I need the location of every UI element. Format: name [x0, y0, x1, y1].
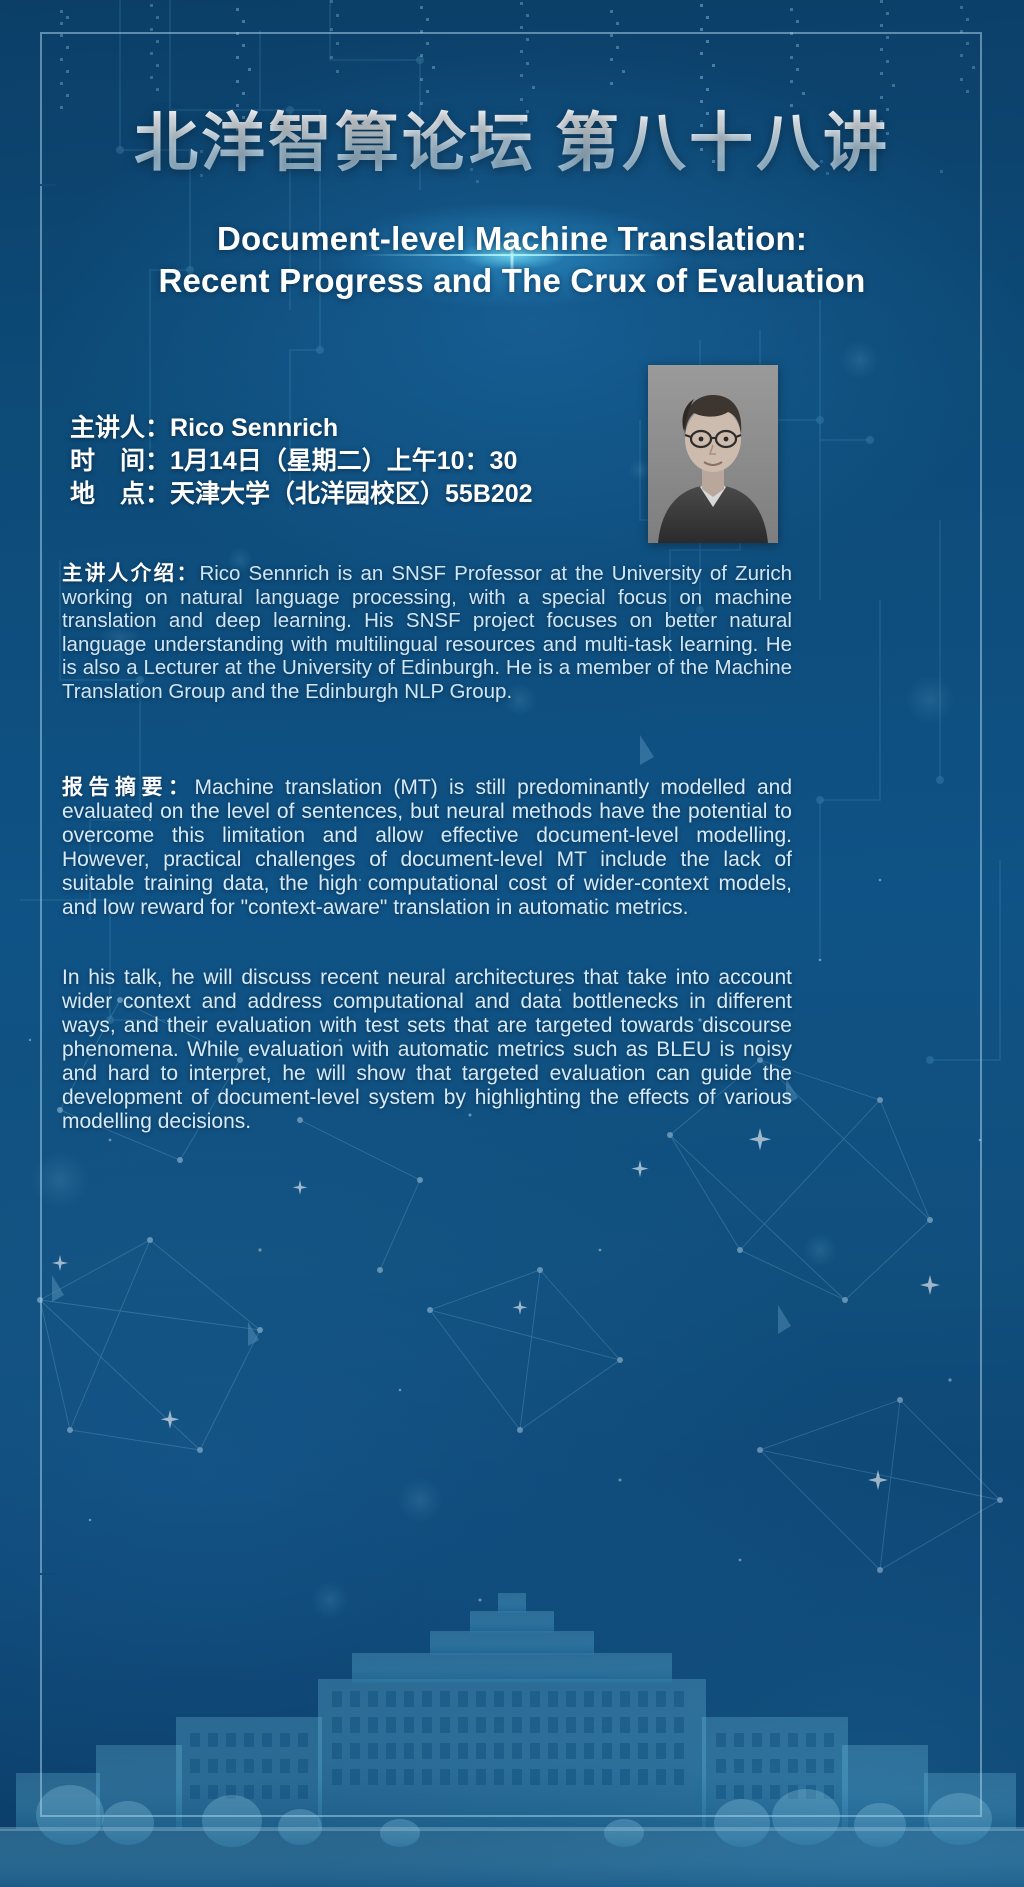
subtitle-line-2: Recent Progress and The Crux of Evaluati…	[60, 260, 964, 302]
event-details-block: 主讲人：Rico Sennrich 时 间：1月14日（星期二）上午10：30 …	[70, 412, 533, 511]
speaker-value: Rico Sennrich	[170, 414, 338, 442]
speaker-bio-paragraph: 主讲人介绍：Rico Sennrich is an SNSF Professor…	[62, 562, 792, 704]
time-row: 时 间：1月14日（星期二）上午10：30	[70, 445, 533, 478]
time-value: 1月14日（星期二）上午10：30	[170, 447, 517, 475]
bio-label: 主讲人介绍：	[62, 562, 199, 585]
abstract-paragraph-2: In his talk, he will discuss recent neur…	[62, 966, 792, 1134]
speaker-row: 主讲人：Rico Sennrich	[70, 412, 533, 445]
poster-canvas: 北洋智算论坛 第八十八讲 Document-level Machine Tran…	[0, 0, 1024, 1887]
place-value: 天津大学（北洋园校区）55B202	[170, 480, 533, 508]
place-row: 地 点：天津大学（北洋园校区）55B202	[70, 478, 533, 511]
time-label: 时 间：	[70, 445, 170, 478]
abstract-paragraph-1: 报告摘要：Machine translation (MT) is still p…	[62, 776, 792, 920]
speaker-label: 主讲人：	[70, 412, 170, 445]
abstract-label: 报告摘要：	[62, 776, 194, 799]
place-label: 地 点：	[70, 478, 170, 511]
page-title-chinese: 北洋智算论坛 第八十八讲	[0, 92, 1024, 184]
page-subtitle-english: Document-level Machine Translation: Rece…	[60, 218, 964, 302]
subtitle-line-1: Document-level Machine Translation:	[60, 218, 964, 260]
speaker-portrait-photo	[648, 365, 778, 543]
